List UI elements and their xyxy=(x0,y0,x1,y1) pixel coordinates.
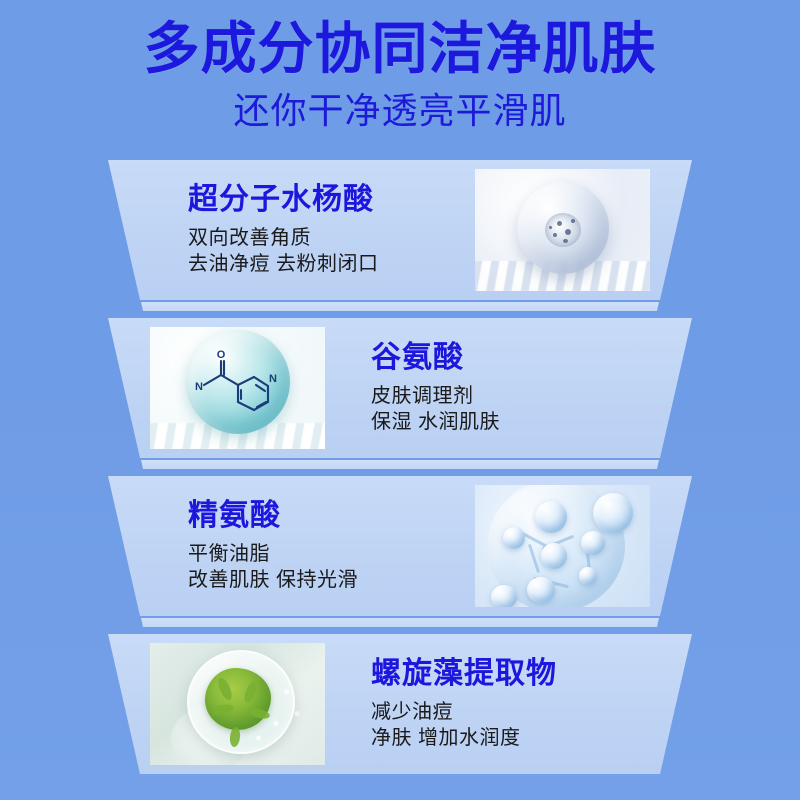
card-shelf xyxy=(0,618,800,627)
ingredient-name: 精氨酸 xyxy=(188,499,281,532)
ingredient-card-list: 超分子水杨酸 双向改善角质 去油净痘 去粉刺闭口 xyxy=(0,160,800,800)
card-content-row: 螺旋藻提取物 减少油痘 净肤 增加水润度 xyxy=(150,634,650,774)
molecule-atom xyxy=(579,567,597,585)
ingredient-desc-line-1: 平衡油脂 xyxy=(188,541,358,567)
molecule-atom xyxy=(491,585,517,607)
molecule-structure-icon: O N N xyxy=(188,349,288,413)
poster-header: 多成分协同洁净肌肤 还你干净透亮平滑肌 xyxy=(0,18,800,131)
crystal-fleck xyxy=(563,239,568,243)
ingredient-card: 超分子水杨酸 双向改善角质 去油净痘 去粉刺闭口 xyxy=(0,160,800,316)
ingredient-card: 精氨酸 平衡油脂 改善肌肤 保持光滑 xyxy=(0,476,800,632)
ingredient-image-arginine-molecule xyxy=(475,485,650,607)
molecule-atom xyxy=(503,527,525,549)
crystal-fleck xyxy=(557,221,562,226)
ingredient-desc-line-2: 改善肌肤 保持光滑 xyxy=(188,567,358,593)
card-shelf xyxy=(0,302,800,311)
ingredient-desc-line-2: 去油净痘 去粉刺闭口 xyxy=(188,251,379,277)
page-title: 多成分协同洁净肌肤 xyxy=(0,18,800,80)
ingredient-desc-line-1: 双向改善角质 xyxy=(188,225,379,251)
card-text-column: 谷氨酸 皮肤调理剂 保湿 水润肌肤 xyxy=(343,341,650,436)
svg-text:N: N xyxy=(269,373,277,385)
ingredient-desc-line-1: 减少油痘 xyxy=(371,699,521,725)
svg-text:O: O xyxy=(216,349,225,361)
card-shelf xyxy=(0,460,800,469)
molecule-atom xyxy=(541,543,567,569)
molecule-atom xyxy=(581,531,605,555)
card-content-row: 精氨酸 平衡油脂 改善肌肤 保持光滑 xyxy=(150,476,650,616)
card-text-column: 螺旋藻提取物 减少油痘 净肤 增加水润度 xyxy=(343,657,650,752)
gel-bubbles-decor xyxy=(150,643,325,765)
card-content-row: 超分子水杨酸 双向改善角质 去油净痘 去粉刺闭口 xyxy=(150,160,650,300)
ingredient-description: 皮肤调理剂 保湿 水润肌肤 xyxy=(371,383,500,436)
product-ingredient-poster: 多成分协同洁净肌肤 还你干净透亮平滑肌 超分子水杨酸 双向改善角质 去油净痘 去… xyxy=(0,0,800,800)
ingredient-image-salicylic-sphere xyxy=(475,169,650,291)
ingredient-card: 谷氨酸 皮肤调理剂 保湿 水润肌肤 xyxy=(0,318,800,474)
ingredient-description: 双向改善角质 去油净痘 去粉刺闭口 xyxy=(188,225,379,278)
card-text-column: 精氨酸 平衡油脂 改善肌肤 保持光滑 xyxy=(150,499,457,594)
ingredient-name: 超分子水杨酸 xyxy=(188,183,374,216)
ingredient-desc-line-2: 净肤 增加水润度 xyxy=(371,725,521,751)
card-content-row: 谷氨酸 皮肤调理剂 保湿 水润肌肤 xyxy=(150,318,650,458)
ingredient-image-spirulina-dish xyxy=(150,643,325,765)
ingredient-desc-line-1: 皮肤调理剂 xyxy=(371,383,500,409)
molecule-atom xyxy=(593,493,633,533)
crystal-fleck xyxy=(571,219,575,223)
crystal-fleck xyxy=(553,233,557,237)
ingredient-name: 螺旋藻提取物 xyxy=(371,657,557,690)
page-subtitle: 还你干净透亮平滑肌 xyxy=(0,90,800,131)
ingredient-name: 谷氨酸 xyxy=(371,341,464,374)
svg-text:N: N xyxy=(195,381,203,393)
molecule-atom xyxy=(535,501,567,533)
crystal-fleck xyxy=(565,229,571,235)
ingredient-description: 平衡油脂 改善肌肤 保持光滑 xyxy=(188,541,358,594)
card-text-column: 超分子水杨酸 双向改善角质 去油净痘 去粉刺闭口 xyxy=(150,183,457,278)
molecule-atom xyxy=(527,577,555,603)
ingredient-card: 螺旋藻提取物 减少油痘 净肤 增加水润度 xyxy=(0,634,800,790)
ingredient-desc-line-2: 保湿 水润肌肤 xyxy=(371,409,500,435)
crystal-fleck xyxy=(549,226,552,229)
ingredient-image-glutamic-bubble: O N N xyxy=(150,327,325,449)
ingredient-description: 减少油痘 净肤 增加水润度 xyxy=(371,699,521,752)
